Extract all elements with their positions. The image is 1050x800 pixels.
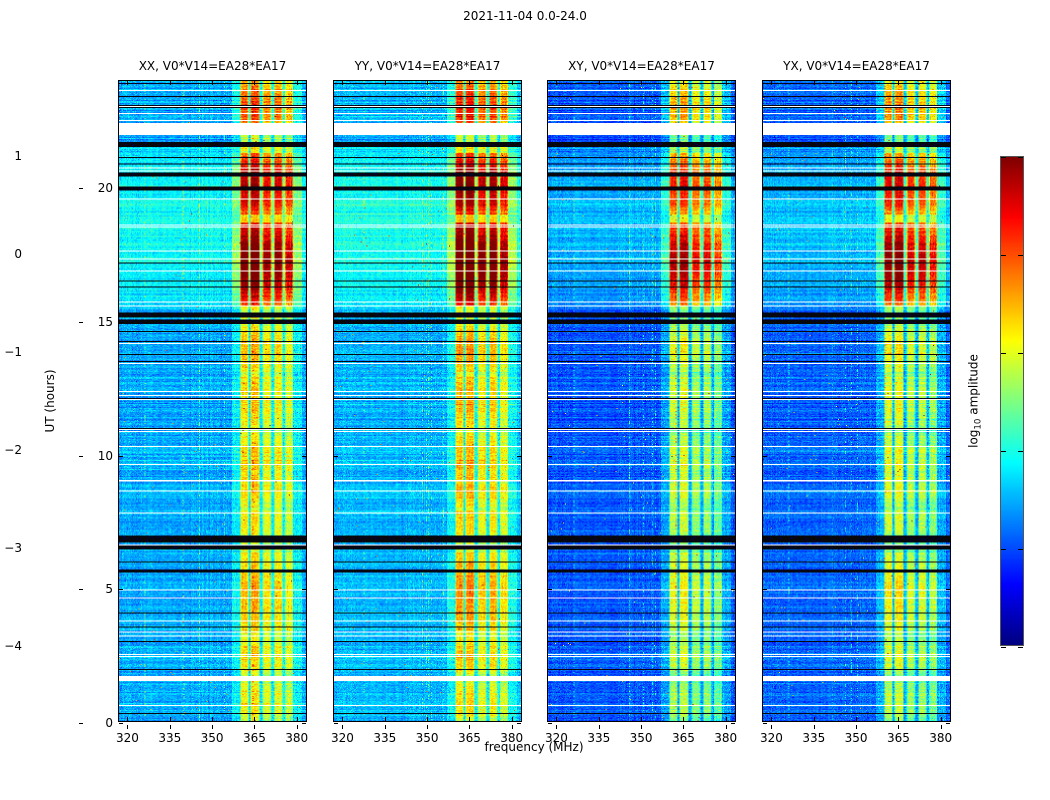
y-tick-label: 5 — [105, 582, 113, 596]
x-tick-mark-top — [771, 81, 772, 85]
y-tick-mark-inner — [763, 589, 767, 590]
colorbar-label-base: log — [966, 430, 980, 448]
x-tick-mark-inner — [254, 717, 255, 721]
colorbar-tick-mark — [1001, 647, 1006, 648]
waterfall-panel-yx[interactable]: YX, V0*V14=EA28*EA17 320335350365380 — [762, 80, 951, 722]
x-tick-mark-inner — [771, 717, 772, 721]
y-tick-mark-inner — [119, 322, 123, 323]
y-tick-mark-inner — [548, 589, 552, 590]
x-tick-mark-top — [212, 81, 213, 85]
x-tick-mark-top — [683, 81, 684, 85]
y-tick-mark-right — [517, 322, 521, 323]
x-tick-mark-top — [599, 81, 600, 85]
waterfall-image-xy — [548, 81, 735, 721]
x-tick-mark-top — [297, 81, 298, 85]
panel-title-xx: XX, V0*V14=EA28*EA17 — [139, 59, 287, 73]
y-tick-mark-right — [731, 589, 735, 590]
y-tick-mark-inner — [763, 723, 767, 724]
y-tick-mark-right — [731, 322, 735, 323]
y-tick-mark-right — [517, 456, 521, 457]
x-tick-mark — [856, 725, 857, 729]
x-tick-mark — [683, 725, 684, 729]
x-tick-label: 335 — [373, 731, 396, 745]
colorbar-tick-mark — [1001, 549, 1006, 550]
x-tick-mark-top — [556, 81, 557, 85]
x-axis-ticks: 320335350365380 — [334, 725, 521, 751]
y-tick-mark-right — [731, 456, 735, 457]
x-tick-label: 320 — [760, 731, 783, 745]
x-tick-mark-top — [469, 81, 470, 85]
y-tick-mark-inner — [763, 322, 767, 323]
waterfall-panel-xx[interactable]: XX, V0*V14=EA28*EA17 3203353503653800510… — [118, 80, 307, 722]
x-tick-mark-inner — [127, 717, 128, 721]
x-tick-mark-top — [127, 81, 128, 85]
y-tick-mark — [79, 456, 83, 457]
x-tick-label: 350 — [845, 731, 868, 745]
y-tick-mark — [79, 322, 83, 323]
x-tick-label: 350 — [416, 731, 439, 745]
colorbar-tick-mark-right — [1018, 255, 1023, 256]
figure-suptitle: 2021-11-04 0.0-24.0 — [0, 9, 1050, 23]
y-tick-mark-right — [302, 456, 306, 457]
x-tick-mark-inner — [683, 717, 684, 721]
x-tick-mark-inner — [726, 717, 727, 721]
colorbar-tick-mark — [1001, 353, 1006, 354]
x-tick-mark — [599, 725, 600, 729]
x-tick-mark-top — [170, 81, 171, 85]
x-tick-mark-inner — [427, 717, 428, 721]
y-tick-label: 20 — [98, 181, 113, 195]
y-axis-ticks: 05101520 — [83, 81, 113, 721]
x-tick-mark — [127, 725, 128, 729]
x-tick-mark-inner — [898, 717, 899, 721]
x-tick-mark — [427, 725, 428, 729]
x-tick-label: 380 — [714, 731, 737, 745]
y-tick-mark-right — [517, 723, 521, 724]
x-tick-mark — [342, 725, 343, 729]
x-tick-mark-top — [427, 81, 428, 85]
y-tick-mark-inner — [763, 456, 767, 457]
y-tick-mark-inner — [548, 188, 552, 189]
x-tick-label: 380 — [285, 731, 308, 745]
colorbar-tick-label: −4 — [4, 639, 22, 653]
x-tick-mark-top — [814, 81, 815, 85]
x-tick-mark-inner — [512, 717, 513, 721]
colorbar[interactable] — [1000, 156, 1024, 646]
x-tick-mark — [814, 725, 815, 729]
x-tick-mark-inner — [212, 717, 213, 721]
x-tick-mark-inner — [170, 717, 171, 721]
x-tick-mark — [254, 725, 255, 729]
x-tick-mark — [726, 725, 727, 729]
y-tick-mark-inner — [334, 322, 338, 323]
y-tick-mark-inner — [334, 589, 338, 590]
colorbar-label: log10 amplitude — [966, 354, 983, 448]
x-tick-label: 320 — [331, 731, 354, 745]
x-tick-mark-top — [385, 81, 386, 85]
y-tick-mark — [79, 723, 83, 724]
y-tick-label: 10 — [98, 449, 113, 463]
colorbar-tick-mark-right — [1018, 647, 1023, 648]
x-tick-label: 335 — [158, 731, 181, 745]
y-tick-mark-right — [946, 589, 950, 590]
x-tick-mark — [212, 725, 213, 729]
y-tick-mark-inner — [548, 456, 552, 457]
waterfall-panel-yy[interactable]: YY, V0*V14=EA28*EA17 320335350365380 — [333, 80, 522, 722]
x-tick-mark — [941, 725, 942, 729]
y-tick-mark-right — [517, 188, 521, 189]
y-tick-mark-right — [302, 723, 306, 724]
colorbar-tick-mark — [1001, 451, 1006, 452]
x-axis-ticks: 320335350365380 — [548, 725, 735, 751]
x-tick-mark — [771, 725, 772, 729]
waterfall-panel-xy[interactable]: XY, V0*V14=EA28*EA17 320335350365380 — [547, 80, 736, 722]
y-tick-label: 0 — [105, 716, 113, 730]
x-tick-mark — [641, 725, 642, 729]
x-axis-ticks: 320335350365380 — [119, 725, 306, 751]
x-tick-label: 335 — [802, 731, 825, 745]
y-axis-label: UT (hours) — [43, 369, 57, 432]
x-tick-mark-inner — [342, 717, 343, 721]
y-tick-mark-inner — [119, 589, 123, 590]
x-tick-mark-top — [898, 81, 899, 85]
y-tick-mark-inner — [548, 723, 552, 724]
y-tick-mark-right — [302, 589, 306, 590]
y-tick-mark-inner — [119, 723, 123, 724]
x-tick-mark-inner — [856, 717, 857, 721]
colorbar-tick-mark — [1001, 157, 1006, 158]
y-tick-mark-inner — [334, 456, 338, 457]
x-tick-mark-top — [726, 81, 727, 85]
x-tick-mark-inner — [385, 717, 386, 721]
y-tick-mark — [79, 589, 83, 590]
panel-title-yx: YX, V0*V14=EA28*EA17 — [783, 59, 930, 73]
colorbar-tick-mark-right — [1018, 353, 1023, 354]
x-tick-label: 350 — [630, 731, 653, 745]
y-tick-mark-inner — [119, 456, 123, 457]
x-tick-mark-top — [856, 81, 857, 85]
x-tick-mark-inner — [941, 717, 942, 721]
y-tick-mark-right — [946, 188, 950, 189]
x-tick-label: 320 — [116, 731, 139, 745]
colorbar-tick-label: −1 — [4, 345, 22, 359]
x-tick-mark — [469, 725, 470, 729]
x-tick-mark-inner — [556, 717, 557, 721]
x-tick-mark — [297, 725, 298, 729]
x-tick-mark-top — [512, 81, 513, 85]
y-tick-mark — [79, 188, 83, 189]
colorbar-tick-label: −2 — [4, 443, 22, 457]
x-tick-mark-top — [641, 81, 642, 85]
y-tick-mark-right — [731, 188, 735, 189]
x-tick-mark — [512, 725, 513, 729]
colorbar-gradient — [1001, 157, 1023, 645]
waterfall-image-xx — [119, 81, 306, 721]
x-tick-label: 365 — [243, 731, 266, 745]
x-tick-mark-top — [941, 81, 942, 85]
x-tick-mark — [385, 725, 386, 729]
x-tick-label: 365 — [672, 731, 695, 745]
waterfall-image-yy — [334, 81, 521, 721]
x-tick-mark-inner — [469, 717, 470, 721]
colorbar-tick-label: 0 — [14, 247, 22, 261]
x-tick-mark — [170, 725, 171, 729]
x-tick-label: 350 — [201, 731, 224, 745]
x-tick-mark — [556, 725, 557, 729]
panel-title-xy: XY, V0*V14=EA28*EA17 — [568, 59, 715, 73]
figure-canvas: 2021-11-04 0.0-24.0 UT (hours) frequency… — [0, 0, 1050, 800]
y-tick-mark-right — [731, 723, 735, 724]
x-tick-mark-inner — [641, 717, 642, 721]
y-tick-label: 15 — [98, 315, 113, 329]
y-tick-mark-inner — [334, 723, 338, 724]
x-tick-mark-inner — [814, 717, 815, 721]
x-tick-label: 380 — [929, 731, 952, 745]
y-tick-mark-inner — [334, 188, 338, 189]
y-tick-mark-right — [946, 322, 950, 323]
x-tick-mark-top — [254, 81, 255, 85]
colorbar-label-subscript: 10 — [974, 419, 984, 430]
colorbar-tick-mark-right — [1018, 451, 1023, 452]
x-axis-ticks: 320335350365380 — [763, 725, 950, 751]
y-tick-mark-right — [946, 723, 950, 724]
x-tick-mark-inner — [599, 717, 600, 721]
x-tick-mark-inner — [297, 717, 298, 721]
x-tick-label: 320 — [545, 731, 568, 745]
y-tick-mark-right — [302, 322, 306, 323]
x-tick-label: 365 — [458, 731, 481, 745]
colorbar-tick-label: −3 — [4, 541, 22, 555]
x-tick-mark-top — [342, 81, 343, 85]
colorbar-tick-label: 1 — [14, 149, 22, 163]
x-tick-label: 335 — [587, 731, 610, 745]
panel-title-yy: YY, V0*V14=EA28*EA17 — [355, 59, 501, 73]
colorbar-tick-mark — [1001, 255, 1006, 256]
y-tick-mark-inner — [119, 188, 123, 189]
x-tick-mark — [898, 725, 899, 729]
colorbar-label-tail: amplitude — [966, 354, 980, 418]
waterfall-image-yx — [763, 81, 950, 721]
y-tick-mark-inner — [548, 322, 552, 323]
colorbar-tick-mark-right — [1018, 549, 1023, 550]
x-tick-label: 365 — [887, 731, 910, 745]
colorbar-tick-mark-right — [1018, 157, 1023, 158]
x-tick-label: 380 — [500, 731, 523, 745]
y-tick-mark-right — [946, 456, 950, 457]
y-tick-mark-inner — [763, 188, 767, 189]
y-tick-mark-right — [302, 188, 306, 189]
y-tick-mark-right — [517, 589, 521, 590]
